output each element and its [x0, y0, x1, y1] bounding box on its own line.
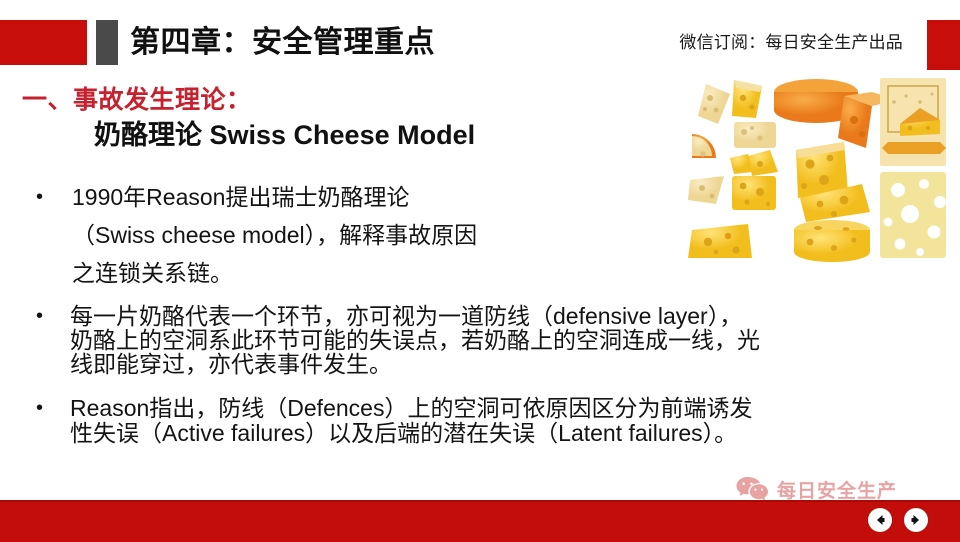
bullet-lines: 1990年Reason提出瑞士奶酪理论 （Swiss cheese model）… — [72, 178, 940, 292]
bullet-line: 每一片奶酪代表一个环节，亦可视为一道防线（defensive layer）， — [70, 304, 940, 328]
slide-navigation — [868, 508, 928, 532]
bullet-item: • Reason指出，防线（Defences）上的空洞可依原因区分为前端诱发 性… — [30, 396, 940, 446]
header-gray-bar — [96, 20, 118, 65]
arrow-left-icon — [873, 513, 887, 527]
wechat-icon — [735, 475, 769, 503]
bullet-item: • 每一片奶酪代表一个环节，亦可视为一道防线（defensive layer），… — [30, 304, 940, 376]
prev-slide-button[interactable] — [868, 508, 892, 532]
bullet-item: • 1990年Reason提出瑞士奶酪理论 （Swiss cheese mode… — [30, 178, 940, 292]
bullet-line: （Swiss cheese model），解释事故原因 — [72, 216, 940, 254]
header-red-block-right — [927, 20, 960, 70]
heading-block: 一、事故发生理论： 奶酪理论 Swiss Cheese Model — [22, 84, 642, 152]
bullet-line: 奶酪上的空洞系此环节可能的失误点，若奶酪上的空洞连成一线，光 — [70, 328, 940, 352]
subscribe-note: 微信订阅：每日安全生产出品 — [679, 28, 903, 53]
section-subheading: 奶酪理论 Swiss Cheese Model — [94, 118, 642, 152]
body-content: • 1990年Reason提出瑞士奶酪理论 （Swiss cheese mode… — [30, 178, 940, 446]
arrow-right-icon — [909, 513, 923, 527]
bullet-marker: • — [36, 396, 43, 421]
next-slide-button[interactable] — [904, 508, 928, 532]
bullet-marker: • — [36, 304, 43, 328]
watermark-text: 每日安全生产 — [777, 476, 897, 503]
page-title: 第四章：安全管理重点 — [130, 20, 435, 65]
slide-root: 第四章：安全管理重点 微信订阅：每日安全生产出品 一、事故发生理论： 奶酪理论 … — [0, 0, 960, 540]
bullet-line: 性失误（Active failures）以及后端的潜在失误（Latent fai… — [70, 421, 940, 446]
bullet-line: 之连锁关系链。 — [72, 254, 940, 292]
slide-header: 第四章：安全管理重点 微信订阅：每日安全生产出品 — [0, 0, 960, 78]
bullet-lines: 每一片奶酪代表一个环节，亦可视为一道防线（defensive layer）， 奶… — [70, 304, 940, 376]
bullet-line: 线即能穿过，亦代表事件发生。 — [70, 352, 940, 376]
section-heading: 一、事故发生理论： — [22, 84, 642, 116]
footer-bar — [0, 500, 960, 542]
bullet-line: 1990年Reason提出瑞士奶酪理论 — [72, 178, 940, 216]
bullet-line: Reason指出，防线（Defences）上的空洞可依原因区分为前端诱发 — [70, 396, 940, 421]
header-red-block-left — [0, 20, 87, 65]
bullet-lines: Reason指出，防线（Defences）上的空洞可依原因区分为前端诱发 性失误… — [70, 396, 940, 446]
bullet-marker: • — [36, 178, 43, 216]
